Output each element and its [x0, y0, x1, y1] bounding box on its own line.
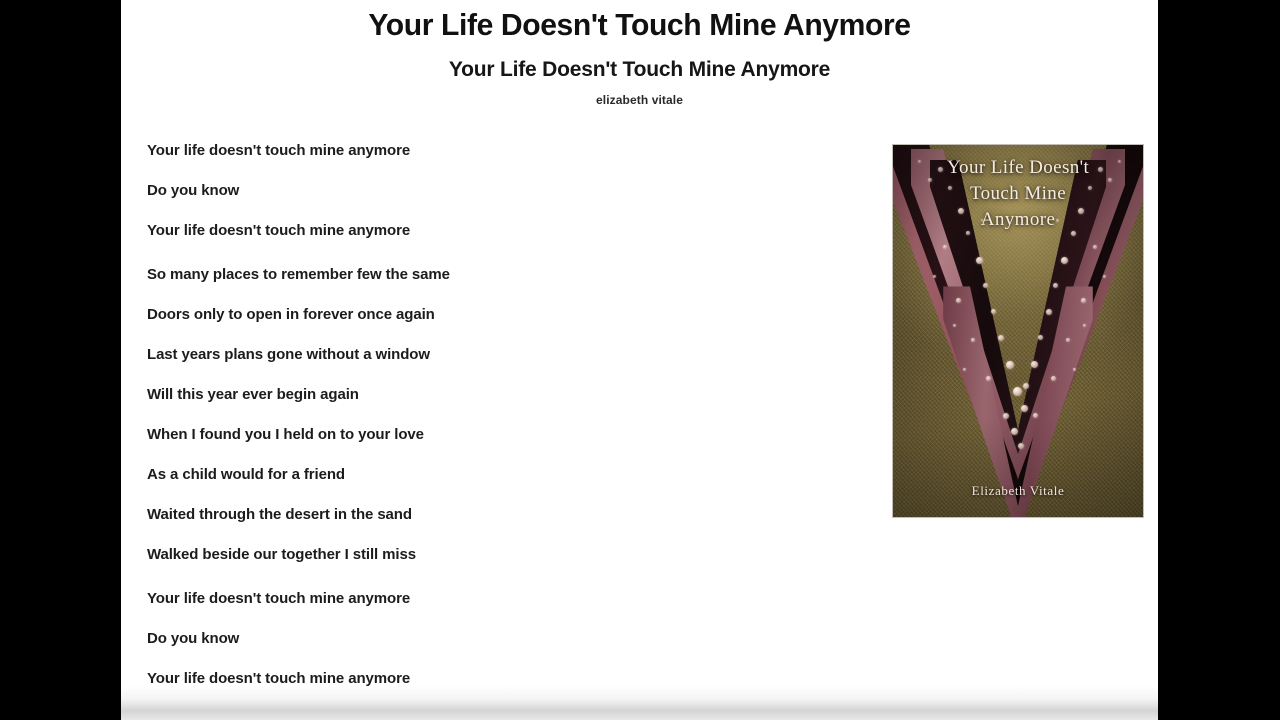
video-viewport: Your Life Doesn't Touch Mine Anymore You…	[0, 0, 1280, 720]
cover-jewel	[1103, 275, 1106, 278]
cover-jewel	[1046, 309, 1052, 315]
cover-jewel	[1003, 413, 1009, 419]
cover-jewel	[991, 309, 996, 314]
cover-jewel	[943, 245, 947, 249]
lyric-line: Last years plans gone without a window	[147, 345, 847, 365]
lyric-line: Your life doesn't touch mine anymore	[147, 221, 847, 241]
cover-jewel	[1031, 361, 1038, 368]
cover-jewel	[1013, 387, 1022, 396]
lyric-line: Will this year ever begin again	[147, 385, 847, 405]
artist-name: elizabeth vitale	[121, 82, 1158, 107]
lyric-line: Do you know	[147, 181, 847, 201]
cover-jewel	[986, 376, 991, 381]
cover-title-line-3: Anymore	[893, 207, 1143, 233]
album-cover-art: Your Life Doesn't Touch Mine Anymore Eli…	[893, 145, 1143, 517]
page-title: Your Life Doesn't Touch Mine Anymore	[137, 0, 1143, 43]
cover-jewel	[956, 298, 961, 303]
cover-jewel	[1006, 361, 1014, 369]
cover-jewel	[1066, 338, 1070, 342]
lyric-line: Doors only to open in forever once again	[147, 305, 847, 325]
cover-jewel	[1051, 376, 1056, 381]
cover-title: Your Life Doesn't Touch Mine Anymore	[893, 155, 1143, 233]
cover-jewel	[933, 275, 936, 278]
cover-title-line-1: Your Life Doesn't	[893, 155, 1143, 181]
cover-jewel	[953, 324, 956, 327]
cover-jewel	[976, 257, 983, 264]
cover-jewel	[1053, 283, 1058, 288]
song-title: Your Life Doesn't Touch Mine Anymore	[121, 43, 1158, 82]
cover-author: Elizabeth Vitale	[893, 483, 1143, 499]
cover-jewel	[1023, 383, 1029, 389]
cover-jewel	[983, 283, 988, 288]
cover-jewel	[971, 338, 975, 342]
cover-jewel	[1021, 405, 1028, 412]
cover-jewel	[1038, 335, 1043, 340]
cover-jewel	[1081, 298, 1086, 303]
lyric-line: Your life doesn't touch mine anymore	[147, 589, 847, 609]
cover-jewel	[998, 335, 1004, 341]
lyric-page: Your Life Doesn't Touch Mine Anymore You…	[121, 0, 1158, 720]
cover-jewel	[963, 368, 966, 371]
lyric-line: As a child would for a friend	[147, 465, 847, 485]
lyric-line: When I found you I held on to your love	[147, 425, 847, 445]
lyric-line: Do you know	[147, 629, 847, 649]
cover-jewel	[1033, 413, 1038, 418]
letterbox-bar-left	[0, 0, 121, 720]
lyric-line: So many places to remember few the same	[147, 265, 847, 285]
cover-jewel	[1061, 257, 1068, 264]
cover-jewel	[1018, 443, 1024, 449]
lyric-line: Your life doesn't touch mine anymore	[147, 669, 847, 689]
cover-jewel	[1083, 324, 1086, 327]
cover-title-line-2: Touch Mine	[893, 181, 1143, 207]
lyric-line: Waited through the desert in the sand	[147, 505, 847, 525]
letterbox-bar-right	[1158, 0, 1280, 720]
page-header: Your Life Doesn't Touch Mine Anymore You…	[121, 0, 1158, 107]
cover-jewel	[1073, 368, 1076, 371]
lyrics-body: Your life doesn't touch mine anymoreDo y…	[147, 141, 847, 709]
cover-jewel	[1011, 428, 1018, 435]
cover-jewel	[1093, 245, 1097, 249]
lyric-line: Your life doesn't touch mine anymore	[147, 141, 847, 161]
lyric-line: Walked beside our together I still miss	[147, 545, 847, 565]
